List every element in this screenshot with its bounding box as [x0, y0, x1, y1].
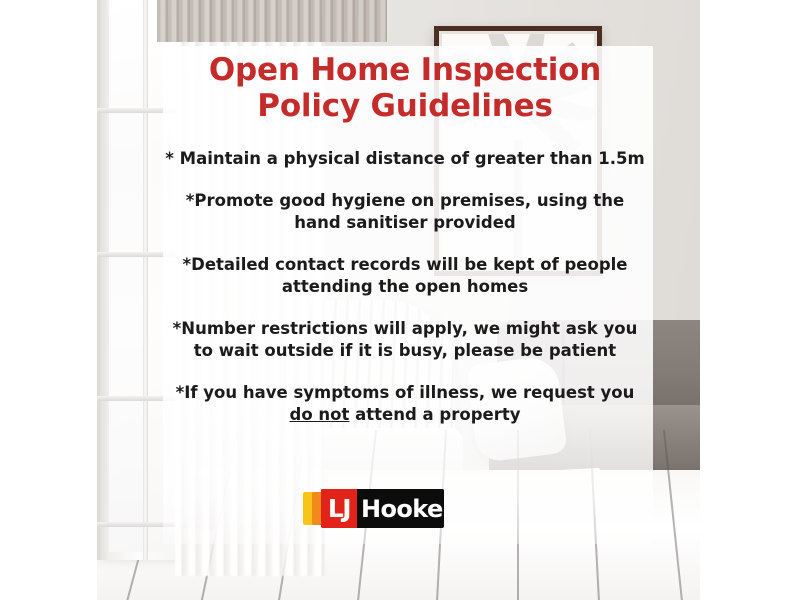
curtain-valance — [157, 0, 387, 42]
guideline-item-1: * Maintain a physical distance of greate… — [150, 148, 660, 170]
lj-hooker-logo: LJ Hooker — [303, 489, 444, 528]
poster-content: Open Home Inspection Policy Guidelines *… — [150, 52, 660, 446]
title-line-1: Open Home Inspection — [162, 52, 648, 88]
guideline-item-5: *If you have symptoms of illness, we req… — [150, 382, 660, 426]
guideline-item-3: *Detailed contact records will be kept o… — [150, 254, 660, 298]
title-line-2: Policy Guidelines — [162, 88, 648, 124]
guideline-item-5-emphasis: do not — [290, 405, 350, 424]
guideline-item-5-suffix: attend a property — [349, 405, 520, 424]
guideline-item-5-prefix: *If you have symptoms of illness, we req… — [176, 383, 635, 402]
guideline-item-4: *Number restrictions will apply, we migh… — [150, 318, 660, 362]
poster-canvas: Open Home Inspection Policy Guidelines *… — [0, 0, 800, 600]
logo-monogram: LJ — [321, 489, 357, 528]
guideline-list: * Maintain a physical distance of greate… — [150, 148, 660, 426]
window-mullion-vertical — [143, 0, 148, 560]
guideline-item-2: *Promote good hygiene on premises, using… — [150, 190, 660, 234]
logo-plate: LJ Hooker — [321, 489, 444, 528]
logo-wordmark: Hooker — [361, 489, 444, 528]
page-title: Open Home Inspection Policy Guidelines — [150, 52, 660, 124]
